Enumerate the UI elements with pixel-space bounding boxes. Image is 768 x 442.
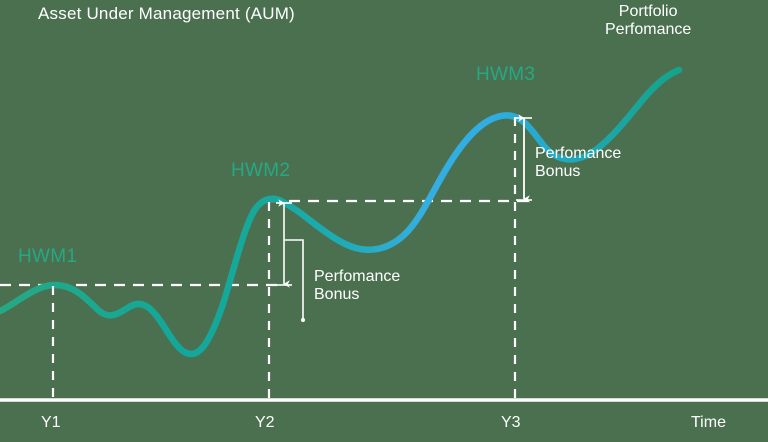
performance-bonus-y3-label: Perfomance Bonus xyxy=(535,145,621,182)
x-axis-tick-y2: Y2 xyxy=(255,414,275,432)
hwm3-label: HWM3 xyxy=(476,64,535,86)
x-axis-tick-y3: Y3 xyxy=(501,414,521,432)
performance-bonus-y3-label-line1: Perfomance xyxy=(535,145,621,163)
hwm2-label: HWM2 xyxy=(231,160,290,182)
aum-chart-svg xyxy=(0,0,768,442)
x-axis-title-time: Time xyxy=(691,414,726,432)
chart-canvas: Asset Under Management (AUM) HWM1 HWM2 H… xyxy=(0,0,768,442)
portfolio-performance-curve xyxy=(0,70,679,354)
performance-bonus-y2-label-line1: Perfomance xyxy=(314,268,400,286)
portfolio-performance-label-line1: Portfolio xyxy=(605,3,691,21)
portfolio-performance-label-line2: Perfomance xyxy=(605,21,691,39)
performance-bonus-y2-label: Perfomance Bonus xyxy=(314,268,400,305)
performance-bonus-y3-label-line2: Bonus xyxy=(535,163,621,181)
performance-bonus-y2-leader xyxy=(284,240,303,320)
portfolio-performance-label: Portfolio Perfomance xyxy=(605,3,691,40)
chart-title: Asset Under Management (AUM) xyxy=(38,4,295,24)
performance-bonus-y2-label-line2: Bonus xyxy=(314,286,400,304)
x-axis-tick-y1: Y1 xyxy=(41,414,61,432)
hwm1-label: HWM1 xyxy=(18,246,77,268)
performance-bonus-y2-leader-endpoint xyxy=(301,318,305,322)
